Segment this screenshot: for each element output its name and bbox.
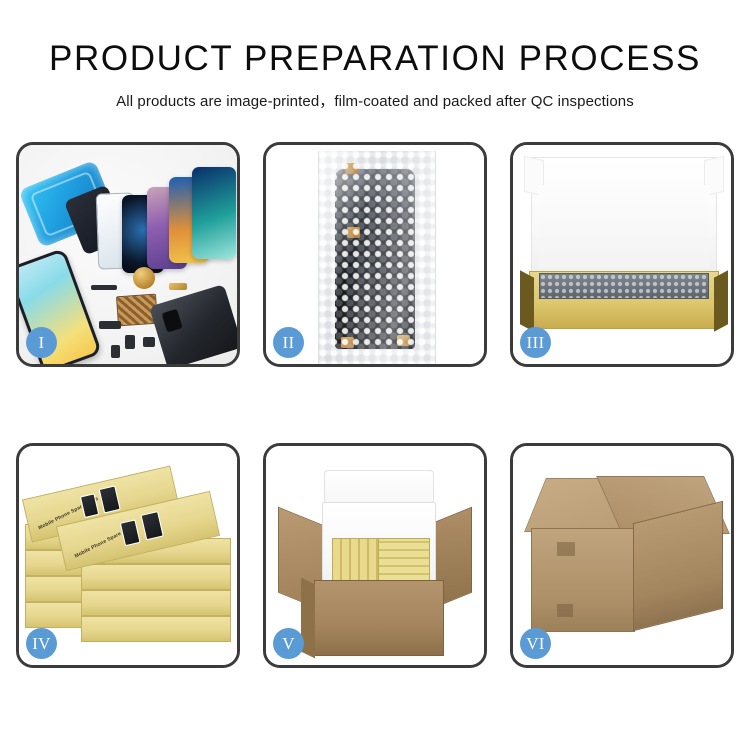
carton-side-face xyxy=(633,501,723,631)
step-badge-6: VI xyxy=(520,628,551,659)
page-title: PRODUCT PREPARATION PROCESS xyxy=(0,41,750,78)
step-badge-2: II xyxy=(273,327,304,358)
small-part-1 xyxy=(91,285,117,290)
product-preparation-infographic: PRODUCT PREPARATION PROCESS All products… xyxy=(0,0,750,750)
small-part-3 xyxy=(99,321,121,329)
phone-back-housing xyxy=(149,284,237,364)
step-badge-3: III xyxy=(520,327,551,358)
bubble-bag xyxy=(318,151,436,364)
small-part-6 xyxy=(143,337,155,347)
white-foam-sheet xyxy=(539,185,709,269)
small-part-8 xyxy=(111,345,120,358)
speaker-component xyxy=(133,267,155,289)
yellow-boxes-right xyxy=(378,538,430,582)
process-step-6: VI xyxy=(510,443,734,668)
process-step-2: II xyxy=(263,142,487,367)
gray-bubble-padding xyxy=(539,273,709,299)
step-badge-4: IV xyxy=(26,628,57,659)
process-step-1: I xyxy=(16,142,240,367)
stacked-box-front-1 xyxy=(81,616,231,642)
small-part-2 xyxy=(169,283,187,290)
page-subtitle: All products are image-printed，film-coat… xyxy=(0,90,750,111)
phone-display-teal xyxy=(192,167,236,259)
process-step-3: III xyxy=(510,142,734,367)
carton-tape-lower xyxy=(557,604,573,617)
header: PRODUCT PREPARATION PROCESS All products… xyxy=(0,0,750,111)
plastic-sheen xyxy=(319,151,435,364)
step-badge-5: V xyxy=(273,628,304,659)
carton-tape-upper xyxy=(557,542,575,556)
process-step-4: Mobile Phone Spare Parts Mobile Phone Sp… xyxy=(16,443,240,668)
process-steps-grid: I II xyxy=(16,142,734,682)
box-window-front-2 xyxy=(140,511,163,540)
box-window-rear-2 xyxy=(99,485,121,513)
process-step-5: V xyxy=(263,443,487,668)
stacked-box-front-3 xyxy=(81,564,231,590)
box-window-front-1 xyxy=(120,519,141,546)
carton-body xyxy=(314,580,444,656)
carton-front-face xyxy=(531,528,635,632)
step-badge-1: I xyxy=(26,327,57,358)
stacked-box-front-2 xyxy=(81,590,231,616)
small-part-5 xyxy=(125,335,135,349)
